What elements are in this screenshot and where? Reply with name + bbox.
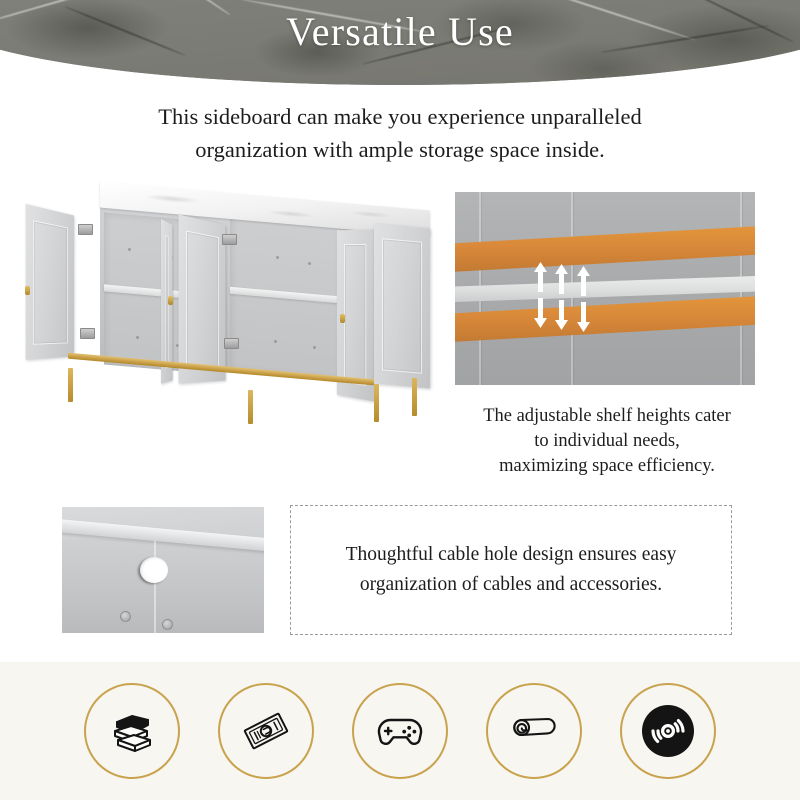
sideboard-door-open-left (26, 204, 74, 360)
cable-hole (140, 557, 168, 583)
shelf-caption-line-3: maximizing space efficiency. (448, 454, 766, 479)
door-hinge (78, 224, 93, 235)
shelf-peg-hole (128, 248, 131, 251)
sideboard-leg (412, 378, 417, 416)
arrow-down-icon (534, 298, 547, 328)
icon-circle-game-controller (352, 683, 448, 779)
door-knob (168, 296, 173, 305)
sideboard-product-photo (8, 188, 446, 453)
arrow-up-icon (534, 262, 547, 292)
sideboard-side-panel-right (374, 224, 430, 389)
page-title: Versatile Use (0, 8, 800, 55)
shelf-peg-hole (313, 346, 316, 349)
adjustable-shelf-diagram (455, 192, 755, 385)
arrow-up-icon (555, 264, 568, 294)
sideboard-leg (374, 384, 379, 422)
shelf-caption-line-2: to individual needs, (448, 429, 766, 454)
product-feature-page: Versatile Use This sideboard can make yo… (0, 0, 800, 800)
books-icon (108, 709, 156, 753)
cable-caption-text: Thoughtful cable hole design ensures eas… (346, 540, 677, 600)
panel-seam (154, 541, 156, 633)
shelf-lower (455, 296, 755, 342)
icon-circle-money (218, 683, 314, 779)
blanket-icon (508, 714, 560, 748)
game-controller-icon (375, 713, 425, 749)
money-icon (243, 708, 289, 754)
screw-cap (120, 611, 131, 622)
shelf-peg-hole (276, 256, 279, 259)
subtitle-line-2: organization with ample storage space in… (80, 133, 720, 166)
door-knob (340, 314, 345, 323)
arrow-down-icon (577, 302, 590, 332)
icon-circle-blanket (486, 683, 582, 779)
vinyl-record-icon (640, 703, 696, 759)
shelf-upper (455, 226, 755, 272)
icon-circle-books (84, 683, 180, 779)
shelf-peg-hole (136, 336, 139, 339)
shelf-caption: The adjustable shelf heights cater to in… (448, 404, 766, 479)
cable-caption-line-1: Thoughtful cable hole design ensures eas… (346, 540, 677, 570)
subtitle: This sideboard can make you experience u… (80, 100, 720, 166)
door-hinge (222, 234, 237, 245)
cable-hole-photo (62, 507, 264, 633)
cable-caption-line-2: organization of cables and accessories. (346, 570, 677, 600)
use-case-icon-strip (0, 662, 800, 800)
shelf-peg-hole (308, 262, 311, 265)
door-hinge (80, 328, 95, 339)
arrow-down-icon (555, 300, 568, 330)
sideboard-leg (68, 368, 73, 402)
door-knob (25, 286, 30, 295)
sideboard-door-open-middle-b (179, 214, 226, 383)
arrow-up-icon (577, 266, 590, 296)
icon-circle-vinyl-record (620, 683, 716, 779)
screw-cap (162, 619, 173, 630)
cable-caption-box: Thoughtful cable hole design ensures eas… (290, 505, 732, 635)
shelf-caption-line-1: The adjustable shelf heights cater (448, 404, 766, 429)
subtitle-line-1: This sideboard can make you experience u… (80, 100, 720, 133)
door-hinge (224, 338, 239, 349)
cabinet-back-wall (62, 539, 264, 633)
sideboard-leg (248, 390, 253, 424)
shelf-peg-hole (274, 340, 277, 343)
